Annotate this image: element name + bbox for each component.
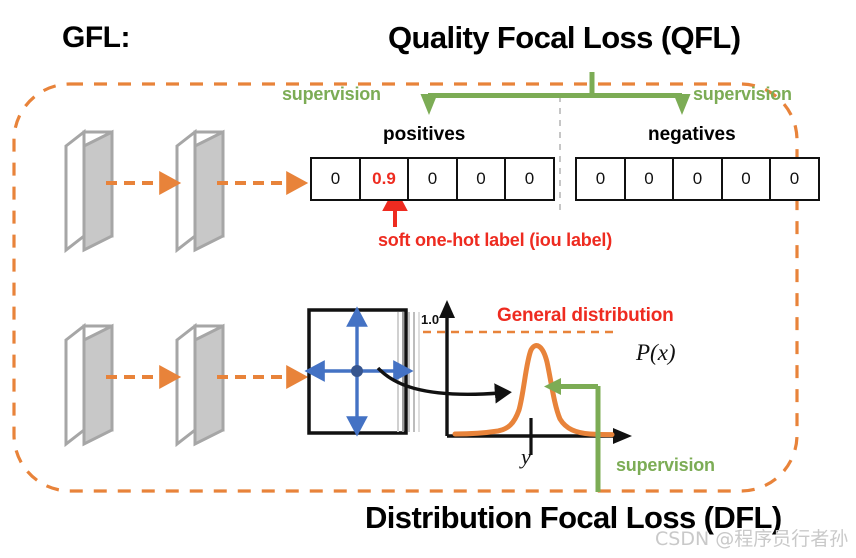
csdn-watermark: CSDN @程序员行者孙 (655, 524, 848, 551)
feature-block-1b (177, 132, 223, 250)
diagram-canvas: GFL: Quality Focal Loss (QFL) Distributi… (0, 0, 856, 558)
supervision-label-left: supervision (282, 84, 381, 105)
positives-label: positives (383, 124, 465, 146)
feature-block-1a (66, 132, 112, 250)
positives-vector: 0 0.9 0 0 0 (310, 157, 555, 201)
supervision-label-right: supervision (693, 84, 792, 105)
negatives-cell: 0 (721, 157, 772, 201)
positives-cell: 0 (504, 157, 555, 201)
negatives-label: negatives (648, 124, 736, 146)
positives-cell: 0 (407, 157, 458, 201)
distribution-curve (455, 346, 612, 435)
y-axis-tick-1: 1.0 (421, 312, 439, 327)
negatives-vector: 0 0 0 0 0 (575, 157, 820, 201)
qfl-title: Quality Focal Loss (QFL) (388, 20, 740, 56)
feature-block-2a (66, 326, 112, 444)
negatives-cell: 0 (769, 157, 820, 201)
soft-one-hot-label-annotation: soft one-hot label (iou label) (378, 230, 612, 251)
positives-cell-highlight: 0.9 (359, 157, 410, 201)
p-of-x-label: P(x) (636, 340, 676, 366)
target-y-label: y (521, 444, 531, 470)
qfl-supervision-bracket (421, 72, 691, 115)
supervision-label-bottom: supervision (616, 455, 715, 476)
negatives-cell: 0 (672, 157, 723, 201)
positives-cell: 0 (310, 157, 361, 201)
bounding-box-illustration (309, 310, 419, 433)
negatives-cell: 0 (624, 157, 675, 201)
gfl-label: GFL: (62, 21, 130, 55)
negatives-cell: 0 (575, 157, 626, 201)
positives-cell: 0 (456, 157, 507, 201)
general-distribution-label: General distribution (497, 305, 674, 327)
feature-block-2b (177, 326, 223, 444)
